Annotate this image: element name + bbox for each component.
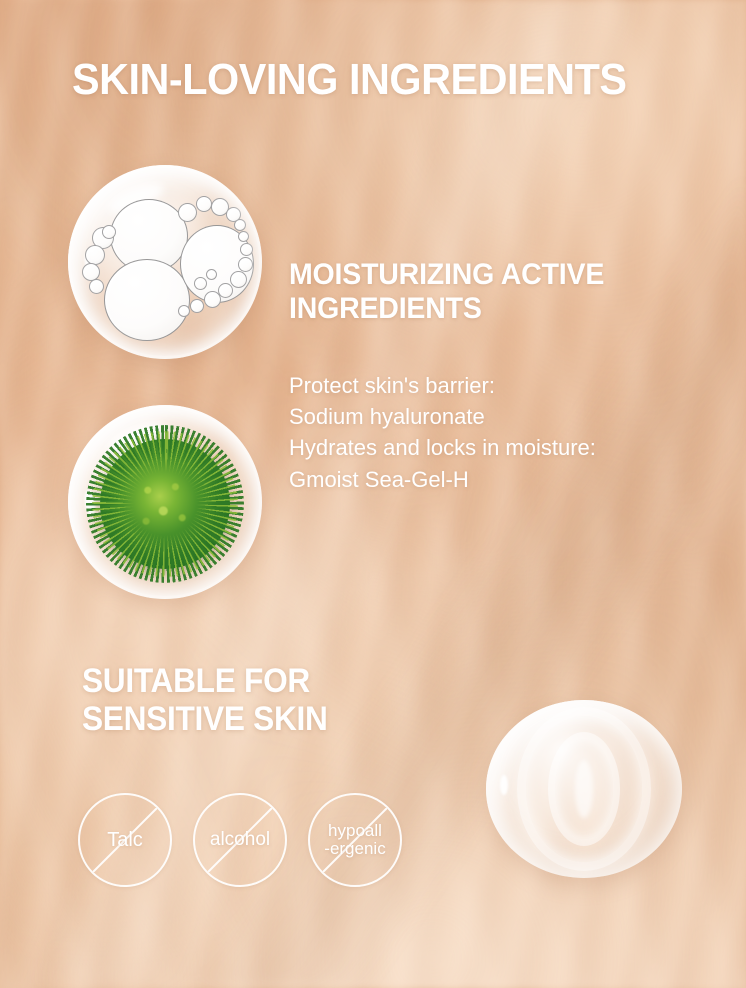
moisturizing-heading: MOISTURIZING ACTIVE INGREDIENTS xyxy=(289,258,669,326)
page-title: SKIN-LOVING INGREDIENTS xyxy=(72,58,626,102)
body-line-3: Hydrates and locks in moisture: xyxy=(289,432,709,463)
badge-label-group: hypoall -ergenic xyxy=(324,822,385,857)
gel-core xyxy=(575,760,593,818)
badge-label: alcohol xyxy=(210,830,270,850)
badge-label: Talc xyxy=(107,830,143,851)
hypoallergenic-badge: hypoall -ergenic xyxy=(308,793,402,887)
sensitive-heading-line1: SUITABLE FOR xyxy=(82,662,328,700)
sensitive-skin-heading: SUITABLE FOR SENSITIVE SKIN xyxy=(82,662,328,738)
free-from-badges: Talc alcohol hypoall -ergenic xyxy=(78,793,402,887)
body-line-2: Sodium hyaluronate xyxy=(289,401,709,432)
moisturizing-heading-line2: INGREDIENTS xyxy=(289,292,669,326)
gel-sphere-bubbles-icon xyxy=(68,165,262,359)
gel-glint xyxy=(500,775,508,795)
moisturizing-body: Protect skin's barrier: Sodium hyalurona… xyxy=(289,370,709,495)
no-talc-badge: Talc xyxy=(78,793,172,887)
badge-label-line1: hypoall xyxy=(324,822,385,840)
ingredients-poster: SKIN-LOVING INGREDIENTS xyxy=(0,0,746,988)
moisturizing-heading-line1: MOISTURIZING ACTIVE xyxy=(289,258,669,292)
sphere-rim xyxy=(68,405,262,599)
body-line-1: Protect skin's barrier: xyxy=(289,370,709,401)
sensitive-heading-line2: SENSITIVE SKIN xyxy=(82,700,328,738)
badge-label-line2: -ergenic xyxy=(324,840,385,858)
no-alcohol-badge: alcohol xyxy=(193,793,287,887)
body-line-4: Gmoist Sea-Gel-H xyxy=(289,464,709,495)
gel-droplet-icon xyxy=(486,700,682,878)
sphere-rim xyxy=(68,165,262,359)
gel-sphere-algae-icon xyxy=(68,405,262,599)
